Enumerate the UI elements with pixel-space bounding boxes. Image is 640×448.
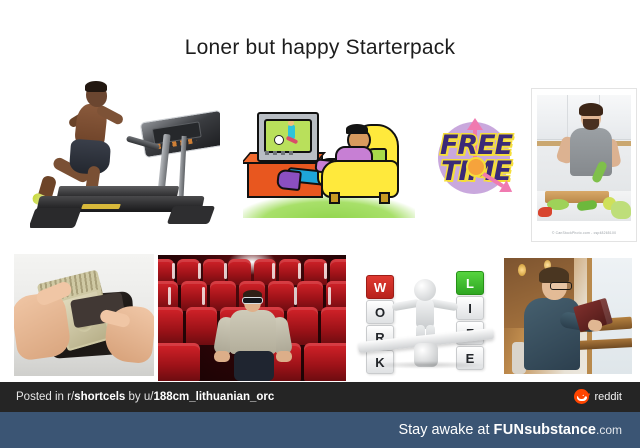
cartoon-hair-icon	[346, 124, 368, 134]
panel-man-alone-in-movie-theater	[158, 255, 346, 381]
theater-seat	[158, 343, 200, 381]
treadmill-stripe-icon	[81, 204, 121, 209]
seat-highlight-icon	[172, 263, 175, 279]
theater-seat	[186, 307, 217, 345]
tv-set-icon	[257, 112, 319, 162]
vegetable-greens-icon	[611, 201, 631, 219]
cafe-lamp-icon	[518, 264, 526, 276]
work-block-letter: O	[366, 300, 394, 324]
theater-seat	[304, 343, 346, 381]
username-link[interactable]: 188cm_lithuanian_orc	[153, 391, 274, 403]
panel-hands-pulling-cash-from-wallet	[14, 254, 154, 376]
reading-photo	[504, 258, 632, 374]
kitchen-photo	[537, 95, 631, 221]
life-block-letter: I	[456, 296, 484, 320]
reader-hair-icon	[539, 267, 569, 283]
moviegoer-sweater-icon	[230, 310, 276, 354]
vegetable-pepper-icon	[538, 207, 552, 217]
life-block-stack: L I F E	[456, 271, 484, 371]
seat-highlight-icon	[324, 263, 327, 279]
tv-soccer-leg-icon	[286, 136, 299, 145]
theater-seat	[287, 307, 318, 345]
credit-middle: by u/	[125, 391, 153, 403]
armchair-leg-left-icon	[329, 192, 340, 204]
footer-prefix: Stay awake at	[398, 422, 493, 438]
clock-arrow-up-icon	[467, 118, 483, 130]
cartoon-shoe-icon	[276, 169, 302, 191]
theater-seat	[158, 307, 183, 345]
tv-screen-icon	[264, 119, 312, 153]
panel-man-cooking-vegetables: © CanStockPhoto.com - csp48265100	[531, 88, 637, 242]
armchair-leg-right-icon	[379, 192, 390, 204]
brand-substance: substance	[524, 422, 596, 438]
life-block-letter: L	[456, 271, 484, 295]
panel-free-time-word-art: FREE TIME	[424, 108, 528, 208]
seat-highlight-icon	[224, 263, 227, 279]
brand-fun: FUN	[494, 422, 525, 438]
panel-cartoon-watching-tv	[243, 108, 415, 218]
clock-center-icon	[466, 157, 486, 177]
stock-photo-watermark: © CanStockPhoto.com - csp48265100	[532, 231, 636, 235]
reddit-wordmark: reddit	[594, 391, 622, 403]
reader-glasses-icon	[550, 282, 572, 290]
reddit-attribution-bar: Posted in r/shortcels by u/188cm_lithuan…	[0, 382, 640, 412]
3d-glasses-icon	[243, 298, 262, 303]
reddit-logo[interactable]: reddit	[574, 389, 622, 404]
work-block-stack: W O R K	[366, 275, 394, 375]
funsubstance-footer-bar: Stay awake at FUNsubstance.com	[0, 412, 640, 448]
credit-prefix: Posted in r/	[16, 391, 74, 403]
cook-beard-icon	[583, 119, 599, 130]
panel-man-reading-book-by-window	[500, 254, 636, 378]
seesaw-shadow-icon	[368, 361, 486, 369]
moviegoer-right-hand-icon	[276, 351, 292, 362]
seat-highlight-icon	[298, 263, 301, 279]
treadmill-foot-left-icon	[30, 208, 82, 228]
brand-tld: .com	[596, 423, 622, 437]
page-title: Loner but happy Starterpack	[0, 36, 640, 60]
meme-image: Loner but happy Starterpack	[0, 0, 640, 448]
panel-work-life-balance-seesaw: W O R K L I F E	[352, 257, 500, 379]
seat-highlight-icon	[198, 263, 201, 279]
post-credit: Posted in r/shortcels by u/188cm_lithuan…	[16, 391, 274, 403]
tv-knobs-icon	[265, 151, 295, 155]
theater-seat	[321, 307, 346, 345]
subreddit-link[interactable]: shortcels	[74, 391, 125, 403]
runner-hair-icon	[85, 81, 107, 92]
seat-highlight-icon	[272, 263, 275, 279]
treadmill-foot-right-icon	[167, 206, 216, 224]
seat-highlight-icon	[294, 287, 297, 305]
treadmill-console-icon	[140, 110, 220, 158]
kitchen-cabinet-seam-icon	[567, 95, 568, 139]
footer-branding: Stay awake at FUNsubstance.com	[398, 422, 622, 438]
figure-head-icon	[414, 279, 436, 301]
reader-sweater-icon	[524, 298, 580, 370]
seat-highlight-icon	[168, 287, 171, 305]
tv-soccer-ball-icon	[274, 135, 284, 145]
seat-highlight-icon	[202, 287, 205, 305]
cook-hair-icon	[579, 103, 603, 116]
work-block-letter: W	[366, 275, 394, 299]
panel-man-running-on-treadmill	[30, 78, 220, 246]
moviegoer-left-hand-icon	[214, 351, 230, 362]
seat-highlight-icon	[328, 287, 331, 305]
reddit-alien-icon	[574, 389, 589, 404]
moviegoer-trousers-icon	[234, 351, 274, 381]
